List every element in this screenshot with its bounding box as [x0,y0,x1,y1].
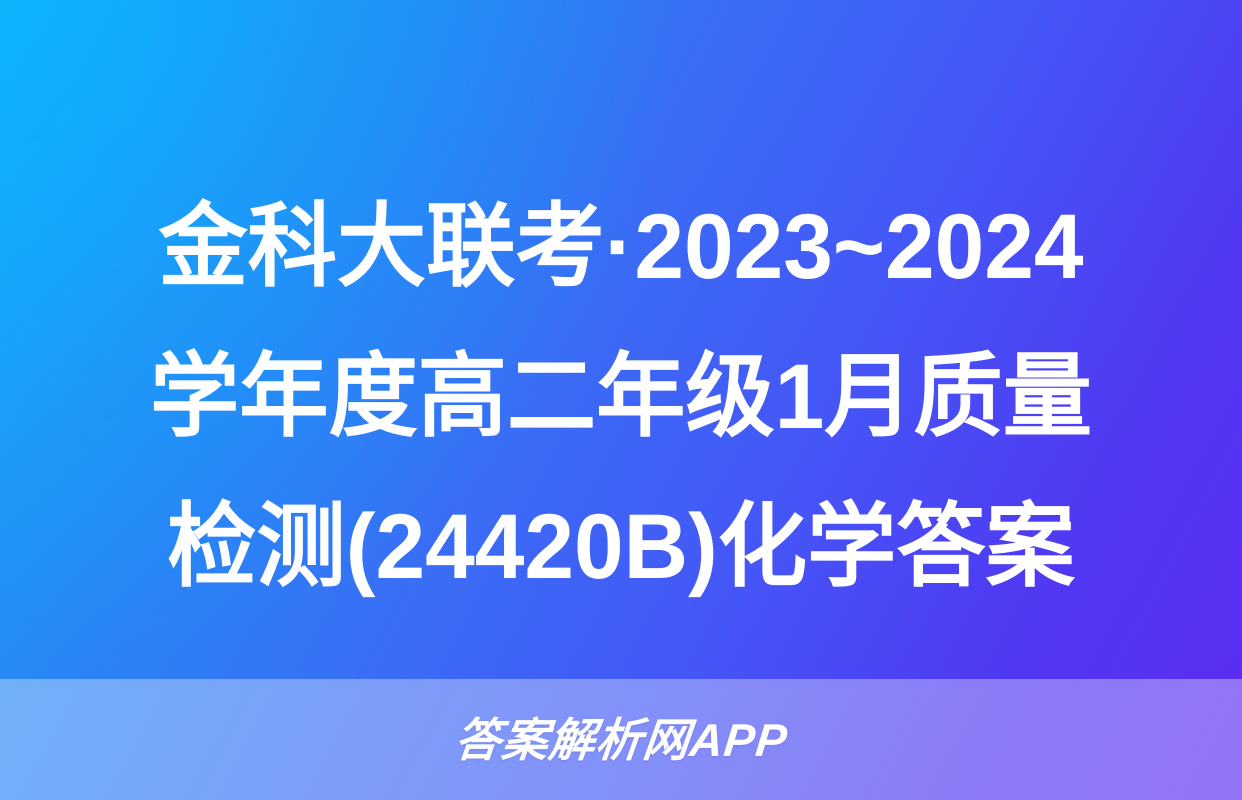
exam-answer-banner: 金科大联考·2023~2024 学年度高二年级1月质量 检测(24420B)化学… [0,0,1242,800]
footer-watermark-band: 答案解析网APP [0,679,1242,800]
app-watermark-label: 答案解析网APP [452,717,789,763]
banner-title-block: 金科大联考·2023~2024 学年度高二年级1月质量 检测(24420B)化学… [0,172,1242,622]
title-line-1: 金科大联考·2023~2024 [94,172,1147,322]
title-line-3: 检测(24420B)化学答案 [94,472,1147,622]
title-line-2: 学年度高二年级1月质量 [94,322,1147,472]
